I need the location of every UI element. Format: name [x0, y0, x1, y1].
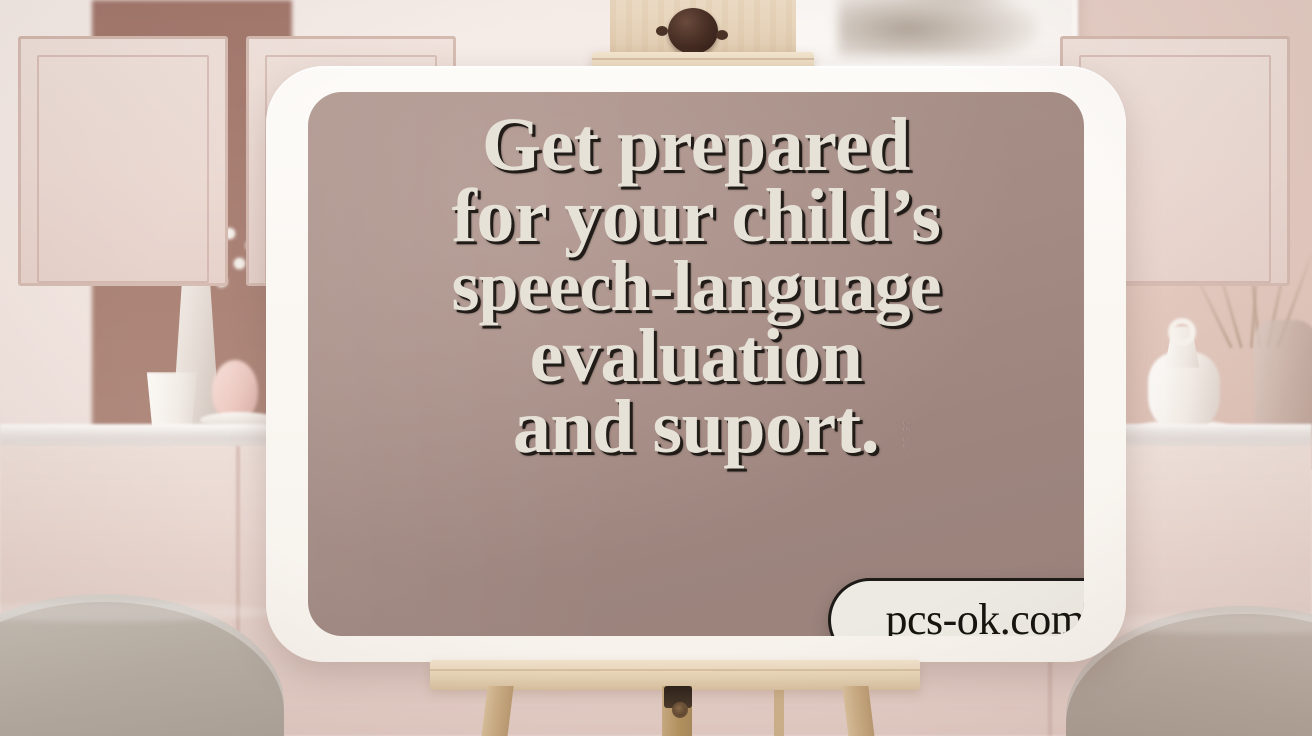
headline-line-5: and suport. [334, 392, 1058, 463]
abstract-framed-artwork [786, 0, 1078, 70]
easel-knob-pin-right [716, 30, 728, 40]
easel-knob [668, 8, 718, 54]
artwork-brushstroke-secondary [888, 0, 1028, 10]
jar-knob [1168, 318, 1196, 346]
whiteboard-surface: Get prepared for your child’s speech-lan… [308, 92, 1084, 636]
faint-watermark-text: 05 89 [901, 420, 912, 450]
left-armchair [0, 594, 284, 736]
poster-headline: Get prepared for your child’s speech-lan… [308, 110, 1084, 463]
headline-line-4: evaluation [334, 321, 1058, 392]
glass-vase [1254, 320, 1312, 440]
headline-line-3: speech-language [334, 253, 1058, 321]
easel-back-leg [774, 686, 784, 736]
website-badge[interactable]: pcs-ok.com [828, 578, 1084, 636]
headline-line-1: Get prepared [334, 110, 1058, 181]
easel-hinge-screw [672, 702, 688, 718]
easel-knob-pin-left [656, 26, 668, 36]
cabinet-panel [18, 36, 228, 286]
website-badge-label: pcs-ok.com [885, 598, 1084, 636]
poster-scene: Get prepared for your child’s speech-lan… [0, 0, 1312, 736]
headline-line-2: for your child’s [334, 181, 1058, 252]
whiteboard-frame: Get prepared for your child’s speech-lan… [266, 66, 1126, 662]
